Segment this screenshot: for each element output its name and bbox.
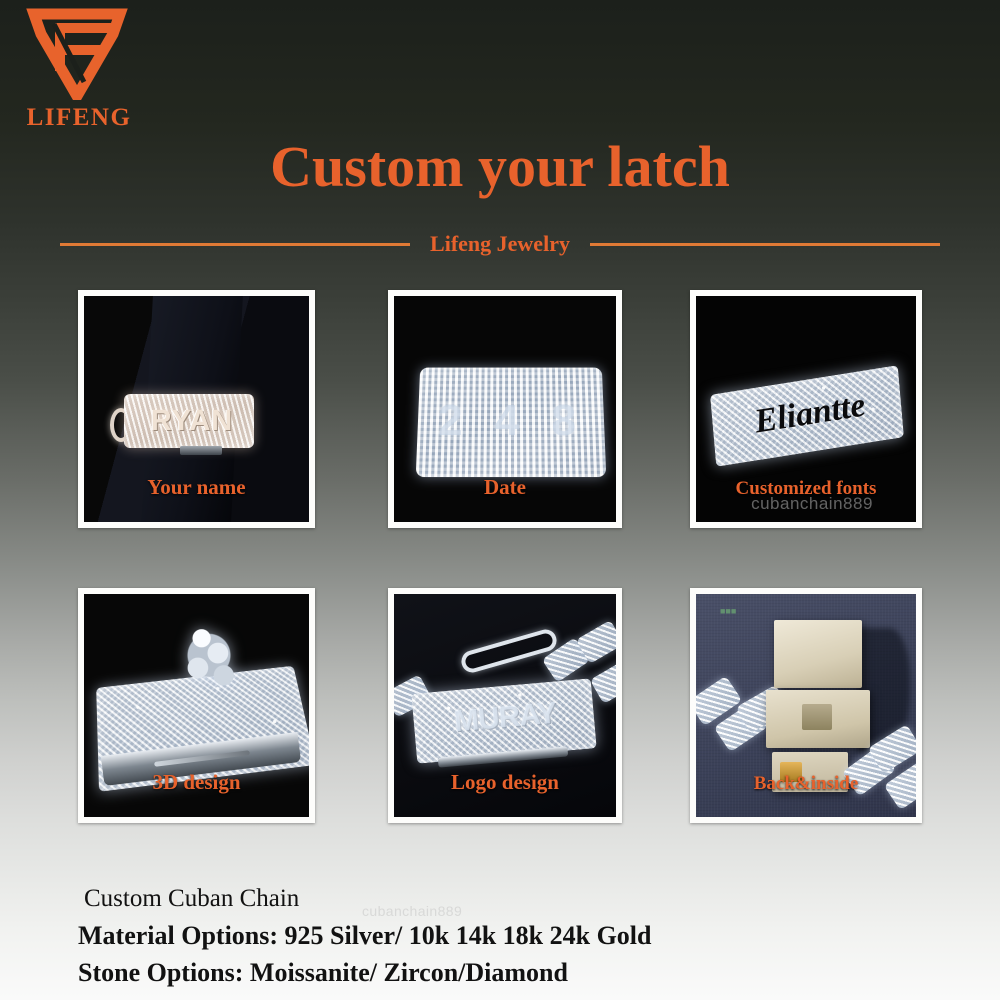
photo-customized-fonts: Eliantte Customized fonts cubanchain889 <box>696 296 916 522</box>
card-caption: Back&inside <box>696 773 916 795</box>
gallery-card-back-inside[interactable]: ■■■ Back&inside <box>690 588 922 823</box>
photo-your-name: RYAN Your name <box>84 296 309 522</box>
photo-date: 2 4 8 Date <box>394 296 616 522</box>
spec-block: Custom Cuban Chain Material Options: 925… <box>78 880 938 991</box>
gallery-card-your-name[interactable]: RYAN Your name <box>78 290 315 528</box>
clasp-name-text: RYAN <box>138 404 246 438</box>
page-title: Custom your latch <box>0 133 1000 200</box>
photo-corner-mark: ■■■ <box>720 606 736 616</box>
gallery-grid: RYAN Your name 2 4 8 Date Eliantte Custo… <box>78 290 922 823</box>
photo-back-inside: ■■■ Back&inside <box>696 594 916 817</box>
clasp-date-text: 2 4 8 <box>434 386 590 456</box>
card-caption: Your name <box>84 475 309 500</box>
photo-watermark: cubanchain889 <box>702 494 916 514</box>
clasp-box-lid <box>774 620 862 688</box>
gallery-card-3d-design[interactable]: 3D design <box>78 588 315 823</box>
brand-name: LIFENG <box>14 104 144 132</box>
card-caption: Logo design <box>394 770 616 795</box>
page-subtitle: Lifeng Jewelry <box>424 231 576 257</box>
photo-logo-design: MURAY Logo design <box>394 594 616 817</box>
diamond-f-logo-icon <box>26 8 128 100</box>
spec-line-product: Custom Cuban Chain <box>78 880 938 917</box>
card-caption: 3D design <box>84 770 309 795</box>
3d-sculpture-icon <box>172 622 246 696</box>
subtitle-row: Lifeng Jewelry <box>60 228 940 260</box>
gallery-card-logo-design[interactable]: MURAY Logo design <box>388 588 622 823</box>
brand-logo: LIFENG <box>14 8 144 133</box>
gallery-card-customized-fonts[interactable]: Eliantte Customized fonts cubanchain889 <box>690 290 922 528</box>
clasp-tab <box>180 446 222 455</box>
gallery-card-date[interactable]: 2 4 8 Date <box>388 290 622 528</box>
card-caption: Date <box>394 475 616 500</box>
bottom-watermark: cubanchain889 <box>362 903 462 919</box>
divider-left <box>60 243 410 246</box>
clasp-box-inside <box>802 704 832 730</box>
promo-banner: LIFENG Custom your latch Lifeng Jewelry … <box>0 0 1000 1000</box>
spec-line-stone: Stone Options: Moissanite/ Zircon/Diamon… <box>78 954 938 991</box>
spec-line-material: Material Options: 925 Silver/ 10k 14k 18… <box>78 917 938 954</box>
photo-3d-design: 3D design <box>84 594 309 817</box>
divider-right <box>590 243 940 246</box>
